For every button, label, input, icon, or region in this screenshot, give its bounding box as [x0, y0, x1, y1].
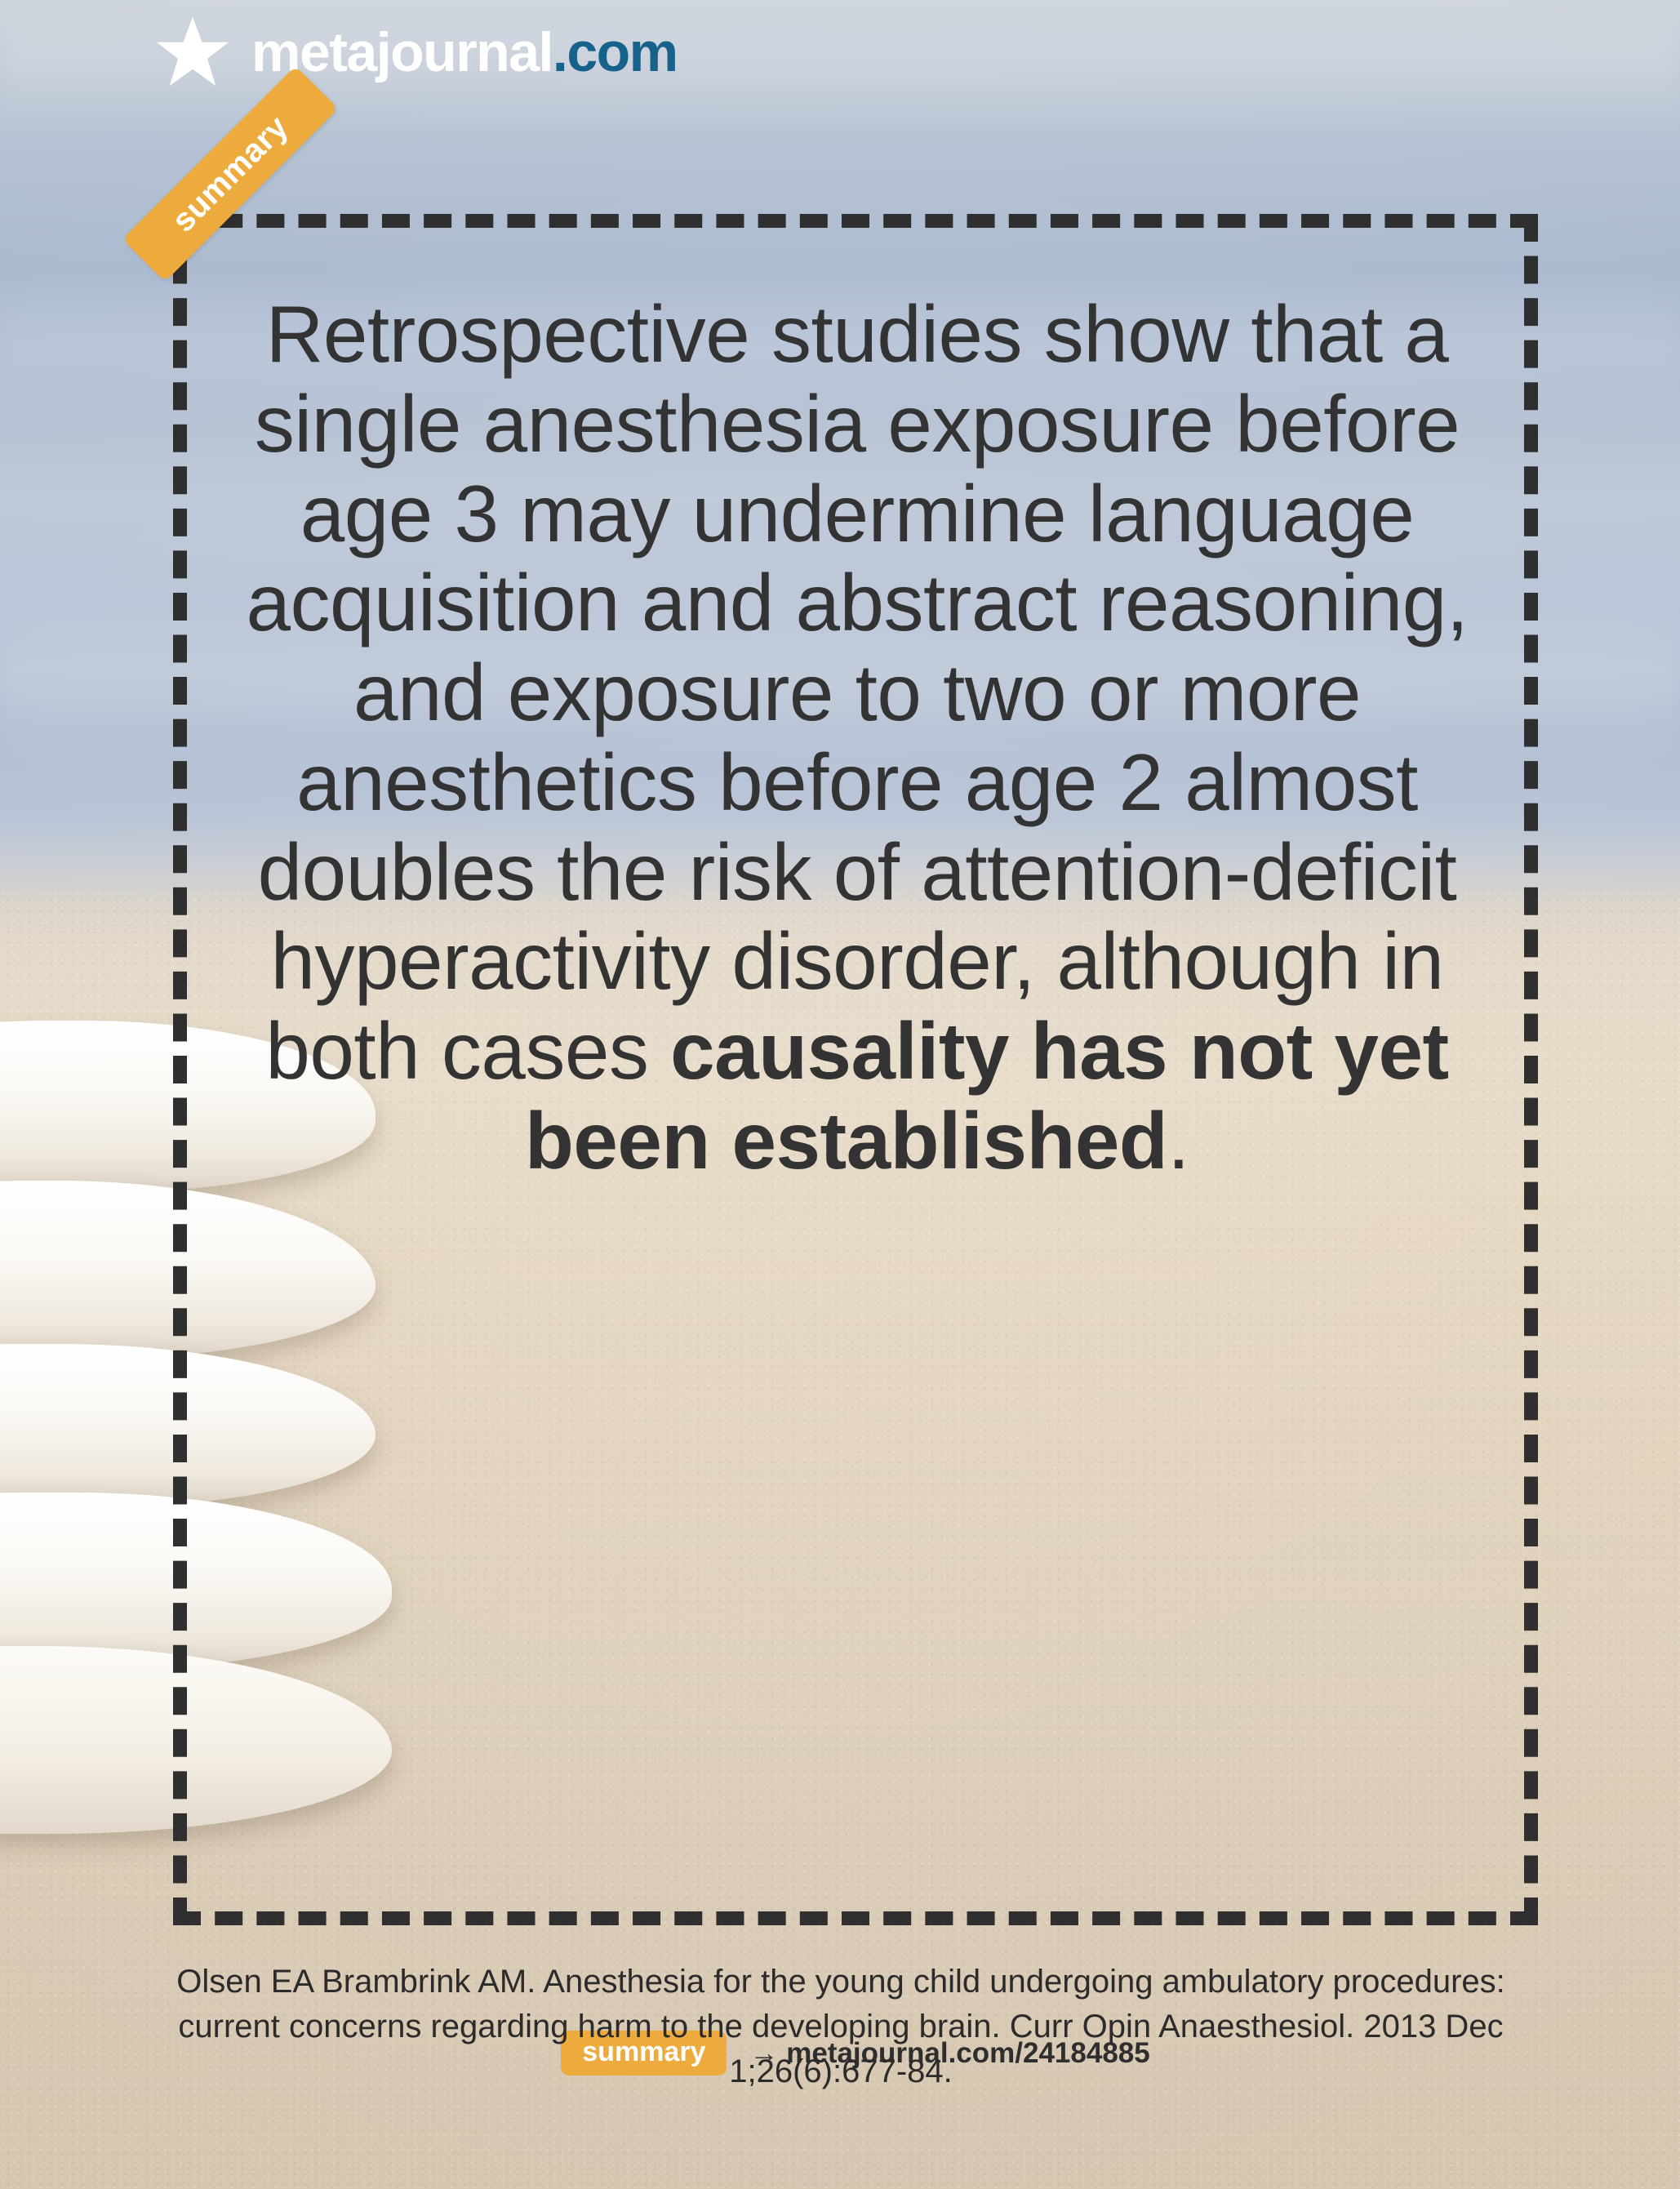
quote-text: Retrospective studies show that a single…: [208, 290, 1506, 1186]
citation-text: Olsen EA Brambrink AM. Anesthesia for th…: [122, 1960, 1559, 2095]
brand-tld: .com: [553, 21, 678, 83]
metajournal-summary-card: metajournal.com summary → metajournal.co…: [0, 0, 1680, 2189]
site-logo[interactable]: metajournal.com: [155, 15, 678, 90]
quote-period: .: [1167, 1096, 1189, 1186]
quote-plain-text: Retrospective studies show that a single…: [246, 289, 1468, 1096]
wordmark: metajournal.com: [251, 24, 678, 80]
quote-container: Retrospective studies show that a single…: [208, 290, 1506, 1186]
star-icon: [155, 15, 230, 90]
